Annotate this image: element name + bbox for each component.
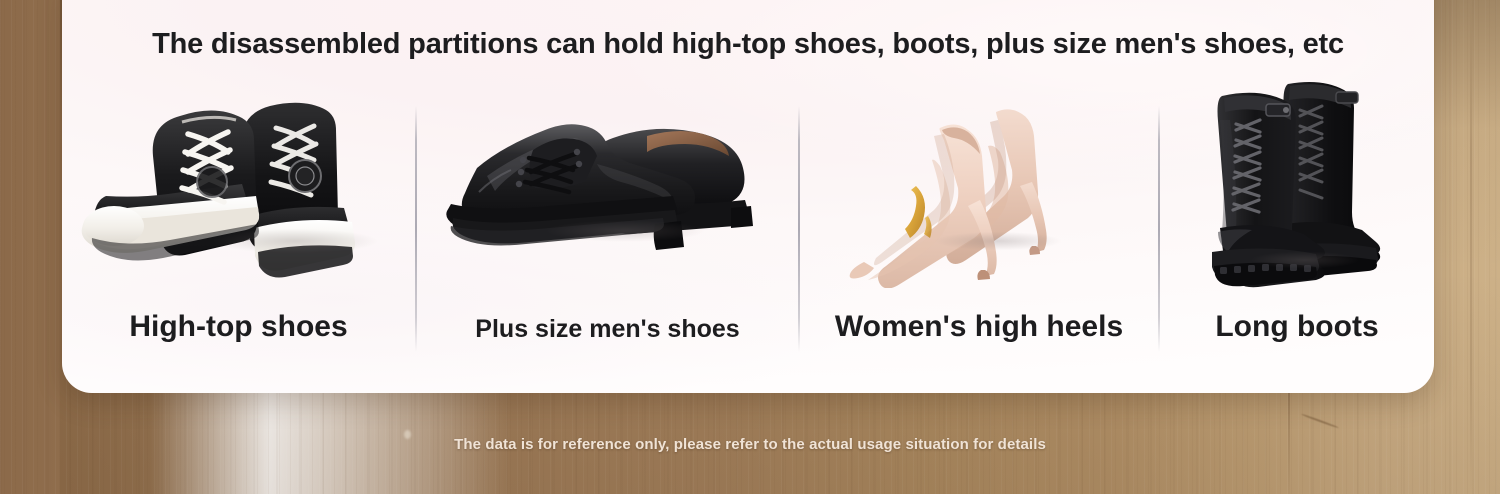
black-leather-dress-shoes-image <box>417 76 798 288</box>
panel-long-boots[interactable]: Long boots <box>1160 76 1434 366</box>
product-shadow <box>1230 248 1380 272</box>
promo-banner: The disassembled partitions can hold hig… <box>0 0 1500 494</box>
panel-label: High-top shoes <box>62 310 415 344</box>
product-shadow <box>515 216 735 246</box>
disclaimer-text: The data is for reference only, please r… <box>0 436 1500 453</box>
dress-shoes-illustration <box>417 76 798 288</box>
panel-label: Plus size men's shoes <box>417 315 798 344</box>
panel-plus-size-mens-shoes[interactable]: Plus size men's shoes <box>417 76 798 366</box>
panel-womens-high-heels[interactable]: Women's high heels <box>800 76 1158 366</box>
content-card: The disassembled partitions can hold hig… <box>62 0 1434 393</box>
panel-high-top-shoes[interactable]: High-top shoes <box>62 76 415 366</box>
nude-stiletto-pumps-image <box>800 76 1158 288</box>
black-high-top-sneakers-image <box>62 76 415 288</box>
shoe-type-panels: High-top shoes <box>62 76 1434 366</box>
page-title: The disassembled partitions can hold hig… <box>62 28 1434 61</box>
panel-label: Long boots <box>1160 310 1434 344</box>
wood-plank-seam <box>1470 0 1472 494</box>
sneakers-illustration <box>62 76 415 288</box>
black-tall-lace-up-boots-image <box>1160 76 1434 288</box>
product-shadow <box>910 228 1086 254</box>
panel-label: Women's high heels <box>800 310 1158 344</box>
product-shadow <box>180 224 410 258</box>
high-heels-illustration <box>800 76 1158 288</box>
